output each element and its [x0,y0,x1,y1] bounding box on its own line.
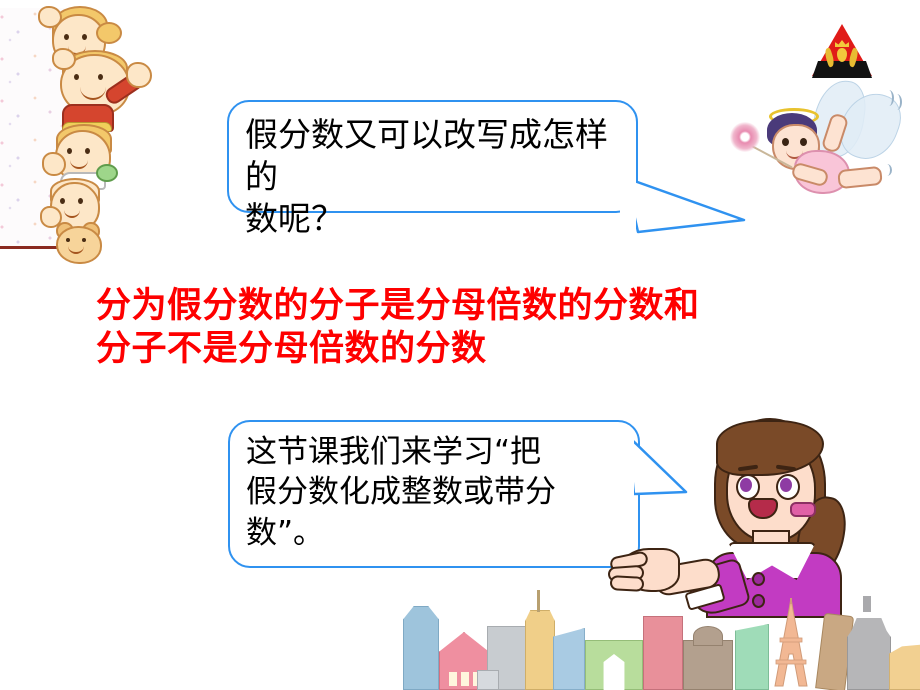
kid-2-eye-right [98,74,103,80]
lesson-bubble-text: 这节课我们来学习“把 假分数化成整数或带分 数”。 [246,432,626,553]
kid-2-eye-left [74,74,79,80]
kid-3-eye-left [67,148,72,154]
slide-canvas: 假分数又可以改写成怎样的 数呢？ 分为假分数的分子是分母倍数的分数和 分子不是分… [0,0,920,690]
skyline-grey-skyscraper-spire [863,596,871,612]
fairy-wand-sparkle-icon [730,122,760,152]
kid-1-eye-right [82,34,87,40]
city-skyline [395,590,920,690]
kid-2-hand-raised [126,62,152,88]
bear-eye-right [82,238,86,242]
fairy-leg [837,166,883,189]
question-bubble-text: 假分数又可以改写成怎样的 数呢？ [245,114,629,241]
skyline-blue-tower [403,606,439,690]
skyline-red-tower [643,616,683,690]
skyline-blue-slant-tower [553,628,585,690]
question-bubble-tail [620,160,760,240]
fairy-eye-left [782,138,789,146]
skyline-grey-block-low [477,670,499,690]
teacher-button-1 [752,572,765,586]
question-bubble[interactable]: 假分数又可以改写成怎样的 数呢？ [227,100,638,213]
teacher-hair-tie [790,502,816,517]
skyline-empire-state-spire [537,590,540,612]
skyline-domed-building [683,640,733,690]
teacher-character [672,412,872,612]
fairy-character [742,80,902,205]
skyline-colosseum [889,638,920,690]
kid-3-bow [96,164,118,182]
skyline-arc-de-triomphe [585,640,643,690]
skyline-eiffel-tower [769,598,813,690]
skyline-empire-state-building [525,610,555,690]
badge-base [812,61,872,78]
teacher-pupil-left [740,478,752,492]
triangle-badge-icon [808,24,876,82]
red-statement-text: 分为假分数的分子是分母倍数的分数和 分子不是分母倍数的分数 [96,285,856,370]
kid-4-eye-left [60,198,65,204]
fairy-eye-right [800,138,807,146]
teacher-pupil-right [780,478,792,492]
kid-1-eye-left [64,34,69,40]
fairy-motion-line-2 [892,94,902,110]
skyline-pink-house-window-1 [449,672,457,686]
skyline-dome [693,626,723,646]
skyline-pink-house-window-2 [461,672,469,686]
kid-2-hand-grip [52,48,76,70]
kid-3-eye-right [85,148,90,154]
skyline-green-apartment [735,624,769,690]
fairy-motion-line-3 [882,164,892,176]
kid-1-pigtail [96,22,122,44]
lesson-bubble[interactable]: 这节课我们来学习“把 假分数化成整数或带分 数”。 [228,420,640,568]
bear-eye-left [66,238,70,242]
kid-3-hand [42,152,66,176]
skyline-grey-skyscraper [847,610,891,690]
kid-1-hand [38,6,62,28]
kid-4-eye-right [78,198,83,204]
